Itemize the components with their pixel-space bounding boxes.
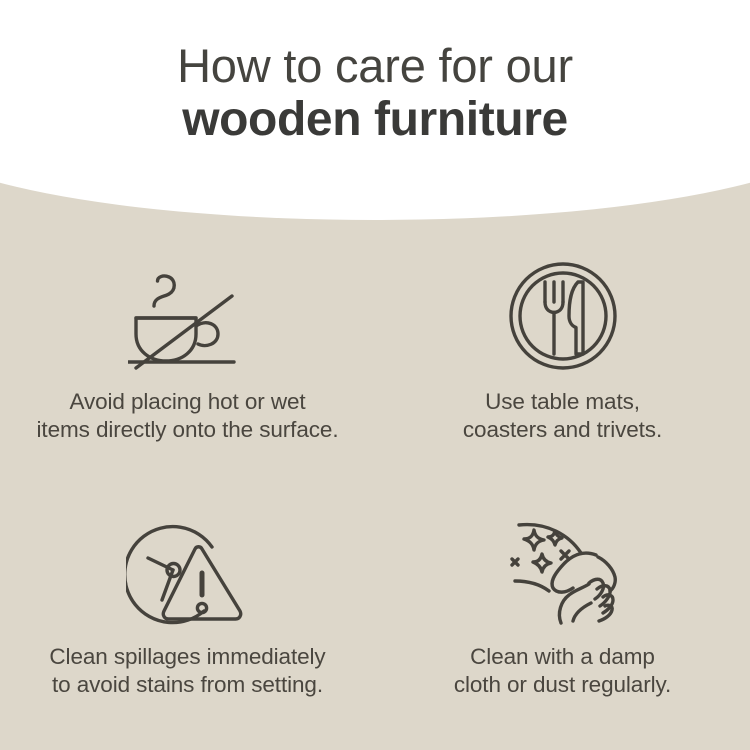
- clock-with-warning-icon: [126, 511, 246, 631]
- tip-caption: Clean with a damp cloth or dust regularl…: [454, 643, 671, 699]
- infographic-poster: How to care for our wooden furniture Avo…: [0, 0, 750, 750]
- tips-grid: Avoid placing hot or wet items directly …: [0, 240, 750, 750]
- tip-caption: Avoid placing hot or wet items directly …: [37, 388, 339, 444]
- plate-with-cutlery-icon: [503, 256, 623, 376]
- tip-caption: Use table mats, coasters and trivets.: [463, 388, 662, 444]
- title-line-bold: wooden furniture: [0, 92, 750, 148]
- tip-item-table-mats: Use table mats, coasters and trivets.: [375, 240, 750, 495]
- tip-caption: Clean spillages immediately to avoid sta…: [49, 643, 325, 699]
- hand-wiping-sparkles-icon: [503, 511, 623, 631]
- tip-item-clean-spillages: Clean spillages immediately to avoid sta…: [0, 495, 375, 750]
- tip-item-damp-cloth: Clean with a damp cloth or dust regularl…: [375, 495, 750, 750]
- page-title: How to care for our wooden furniture: [0, 0, 750, 148]
- tip-item-avoid-hot-wet: Avoid placing hot or wet items directly …: [0, 240, 375, 495]
- no-hot-drink-icon: [128, 256, 248, 376]
- title-line-light: How to care for our: [0, 38, 750, 94]
